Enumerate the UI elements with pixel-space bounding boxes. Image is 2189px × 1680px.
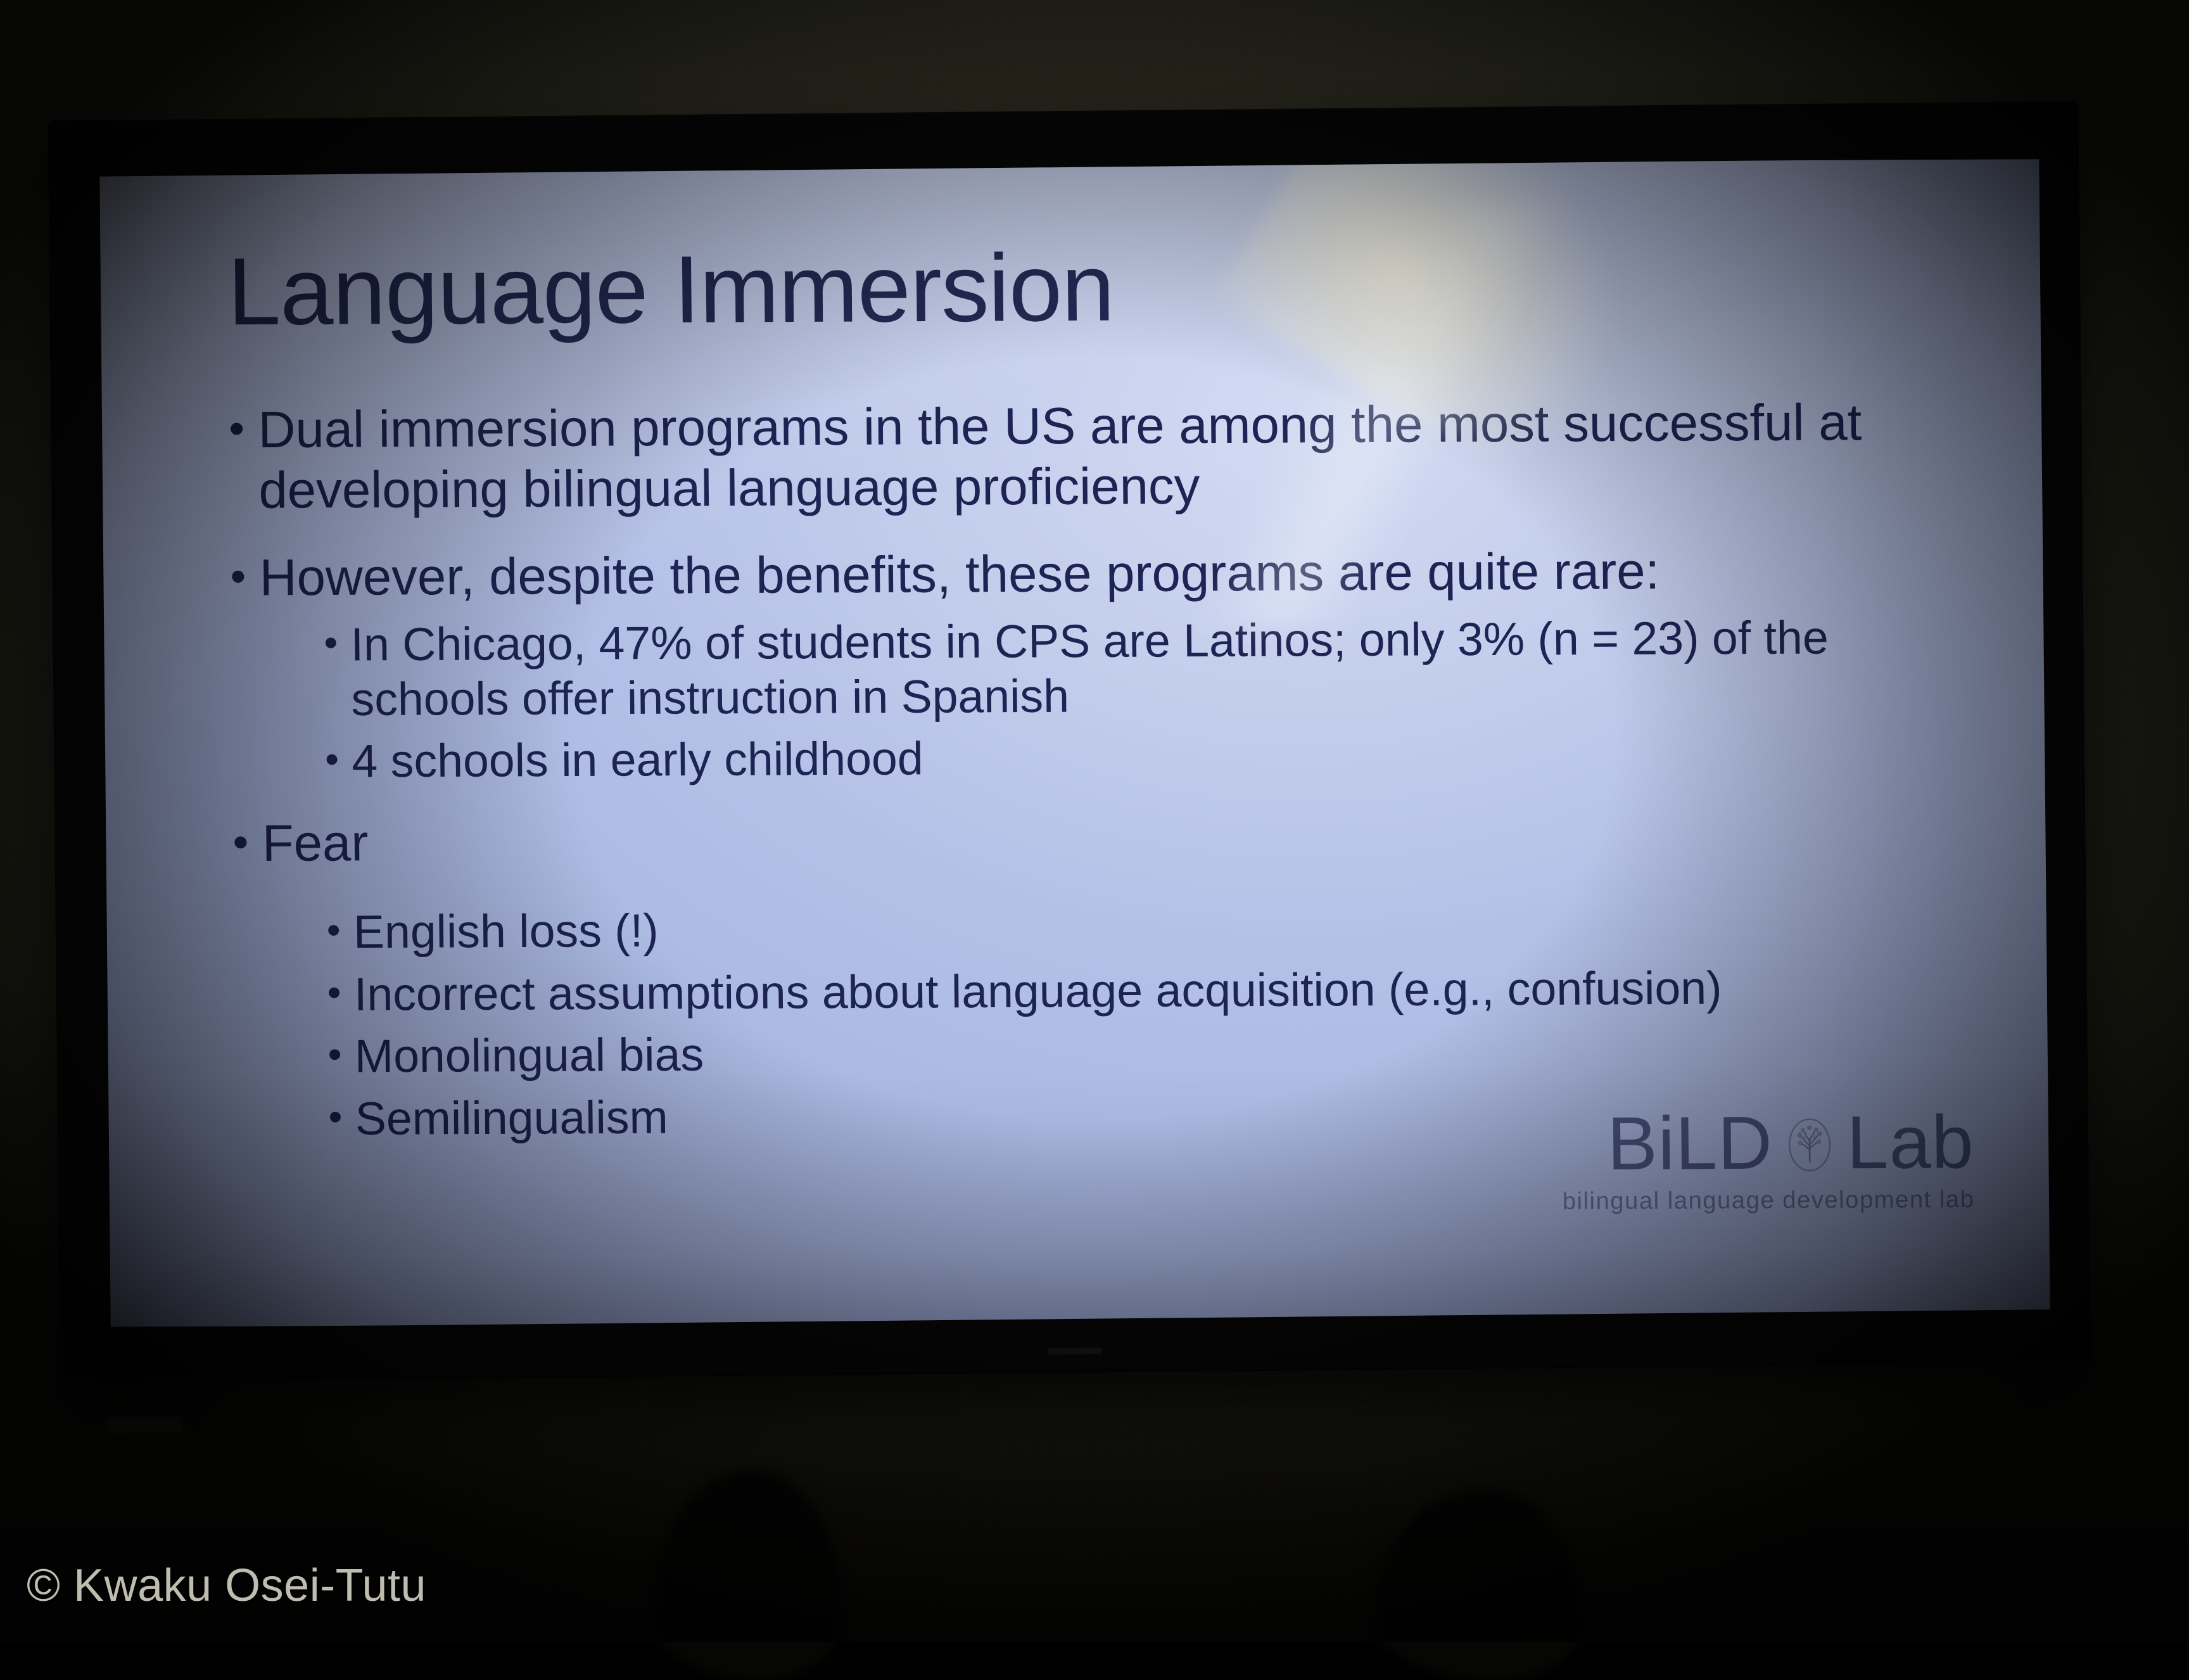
copyright-watermark: © Kwaku Osei-Tutu [27, 1560, 426, 1612]
photo-vignette [0, 0, 2189, 1642]
